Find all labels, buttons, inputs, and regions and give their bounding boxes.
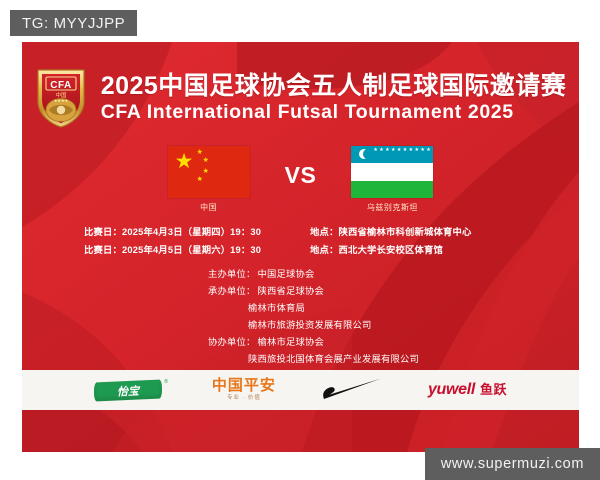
organizer-value: 中国足球协会	[256, 266, 580, 280]
title-chinese: 2025中国足球协会五人制足球国际邀请赛	[101, 72, 567, 100]
uzbekistan-flag-icon: ★★★★★★★★★★★★	[351, 146, 433, 198]
matchup-row: ★ ★ ★ ★ ★ 中国 VS ★★★★★★★★★★★★ 乌兹别克斯坦	[22, 146, 579, 212]
pingan-logo-subtitle: 专业 · 价值	[227, 396, 261, 402]
match-schedule: 比赛日：2025年4月3日（星期四）19：30 地点：陕西省榆林市科创新城体育中…	[84, 224, 544, 260]
organizer-value: 榆林市足球协会	[256, 334, 580, 348]
team-away: ★★★★★★★★★★★★ 乌兹别克斯坦	[344, 146, 440, 213]
uz-flag-green-band	[351, 181, 433, 198]
yibao-logo-text: 怡宝	[94, 380, 162, 402]
watermark-top-left: TG: MYYJJPP	[10, 10, 137, 36]
match-datetime: 比赛日：2025年4月5日（星期六）19：30	[84, 242, 310, 256]
sponsor-logo-yuwell: yuwell 鱼跃	[428, 382, 507, 398]
svg-text:★★★★: ★★★★	[54, 98, 69, 103]
organizer-colon: ：	[246, 334, 256, 348]
uz-flag-white-band	[351, 163, 433, 180]
organizer-label: 主办单位	[180, 266, 246, 280]
poster-header: CFA 中国 ★★★★ 2025中国足球协会五人制足球国际邀请赛 CFA Int…	[22, 60, 579, 136]
title-english: CFA International Futsal Tournament 2025	[101, 101, 514, 123]
sponsor-logo-nike	[320, 377, 384, 403]
uz-flag-blue-band: ★★★★★★★★★★★★	[351, 146, 433, 163]
flag-star-2: ★	[203, 157, 209, 164]
cfa-crest-icon: CFA 中国 ★★★★	[35, 67, 87, 129]
team-away-name: 乌兹别克斯坦	[367, 202, 418, 213]
vs-label: VS	[285, 162, 317, 189]
uz-flag-stars: ★★★★★★★★★★★★	[373, 148, 411, 161]
yuwell-logo-text-en: yuwell	[428, 382, 475, 398]
flag-star-3: ★	[203, 168, 209, 175]
sponsor-bar: 怡宝 ® 中国平安 专业 · 价值 yuwell 鱼跃	[22, 370, 579, 410]
organizer-value: 陕西省足球协会	[256, 283, 580, 297]
watermark-bottom-right: www.supermuzi.com	[425, 448, 600, 480]
organizer-value: 榆林市体育局	[246, 300, 579, 314]
flag-star-4: ★	[197, 176, 203, 183]
pingan-logo-text: 中国平安	[212, 378, 276, 393]
organizer-row: 榆林市旅游投资发展有限公司	[180, 317, 579, 331]
organizer-colon: ：	[246, 266, 256, 280]
organizer-label: 协办单位	[180, 334, 246, 348]
organizer-row: 主办单位 ： 中国足球协会	[180, 266, 579, 280]
match-venue: 地点：西北大学长安校区体育馆	[310, 242, 544, 256]
svg-text:CFA: CFA	[50, 80, 72, 91]
organizer-value: 陕西旅投北国体育会展产业发展有限公司	[246, 351, 579, 365]
flag-star-large: ★	[175, 151, 194, 172]
yuwell-logo-text-cn: 鱼跃	[480, 383, 507, 396]
organizer-row: 榆林市体育局	[180, 300, 579, 314]
organizer-value: 榆林市旅游投资发展有限公司	[246, 317, 579, 331]
organizer-row: 承办单位 ： 陕西省足球协会	[180, 283, 579, 297]
team-home: ★ ★ ★ ★ ★ 中国	[161, 146, 257, 213]
match-venue: 地点：陕西省榆林市科创新城体育中心	[310, 224, 544, 238]
team-home-name: 中国	[200, 202, 217, 213]
match-datetime: 比赛日：2025年4月3日（星期四）19：30	[84, 224, 310, 238]
sponsor-logo-pingan: 中国平安 专业 · 价值	[212, 378, 276, 402]
yibao-trademark-symbol: ®	[164, 379, 168, 385]
organizer-row: 协办单位 ： 榆林市足球协会	[180, 334, 579, 348]
china-flag-icon: ★ ★ ★ ★ ★	[168, 146, 250, 198]
sponsor-logo-yibao: 怡宝 ®	[94, 377, 168, 403]
flag-star-1: ★	[197, 149, 203, 156]
organizer-list: 主办单位 ： 中国足球协会 承办单位 ： 陕西省足球协会 榆林市体育局 榆林市旅…	[180, 266, 579, 385]
organizer-label: 承办单位	[180, 283, 246, 297]
nike-swoosh-icon	[320, 377, 384, 403]
match-row: 比赛日：2025年4月3日（星期四）19：30 地点：陕西省榆林市科创新城体育中…	[84, 224, 544, 238]
match-row: 比赛日：2025年4月5日（星期六）19：30 地点：西北大学长安校区体育馆	[84, 242, 544, 256]
poster-title-block: 2025中国足球协会五人制足球国际邀请赛 CFA International F…	[101, 72, 567, 123]
crescent-moon-icon	[359, 149, 369, 159]
tournament-poster: CFA 中国 ★★★★ 2025中国足球协会五人制足球国际邀请赛 CFA Int…	[22, 42, 579, 452]
organizer-colon: ：	[246, 283, 256, 297]
organizer-row: 陕西旅投北国体育会展产业发展有限公司	[180, 351, 579, 365]
